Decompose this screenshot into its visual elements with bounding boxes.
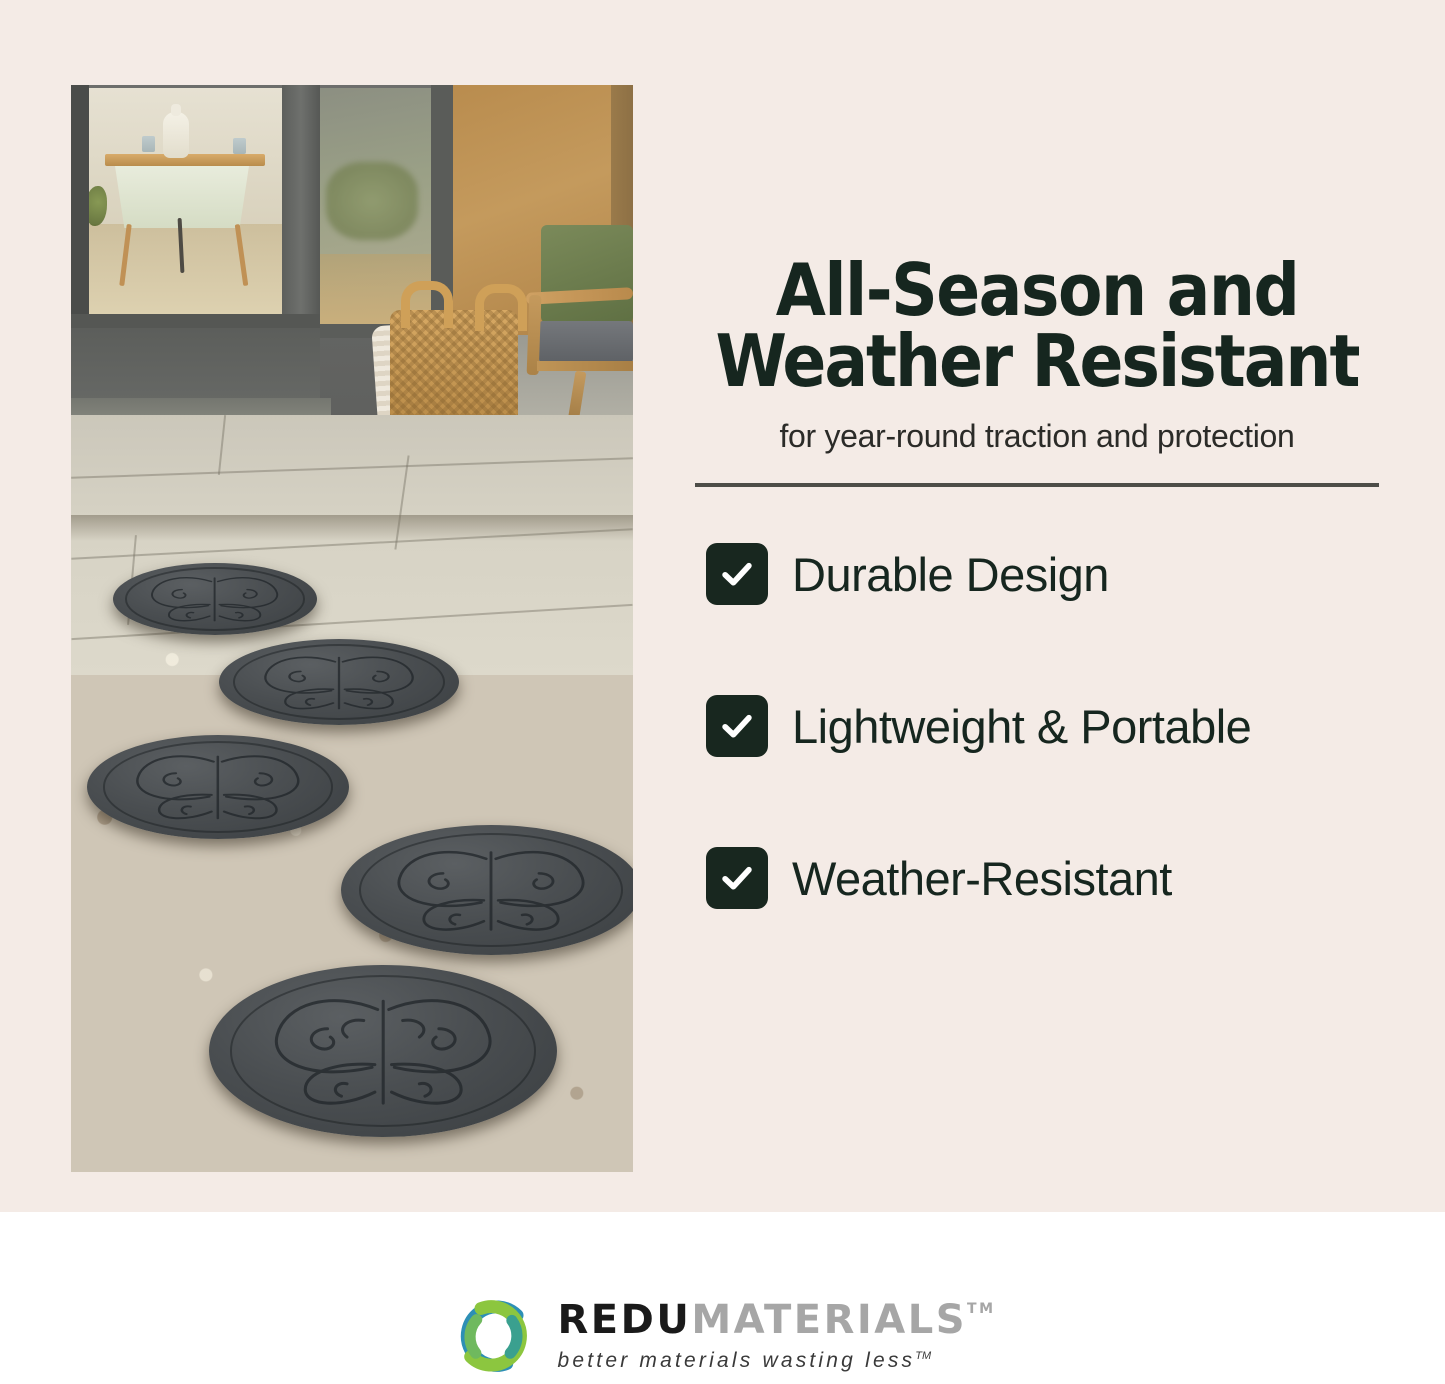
stepping-stone (219, 639, 459, 725)
logo-tagline-trademark: TM (915, 1350, 931, 1362)
list-item: Weather-Resistant (706, 847, 1382, 909)
content-column: All-Season and Weather Resistant for yea… (692, 255, 1382, 909)
feature-label: Weather-Resistant (792, 851, 1172, 906)
subtitle: for year-round traction and protection (692, 418, 1382, 455)
brand-logo: REDU MATERIALS TM better materials wasti… (0, 1288, 1445, 1384)
door-glass-left (89, 88, 282, 314)
logo-trademark: TM (967, 1302, 995, 1316)
check-icon (706, 543, 768, 605)
redu-swirl-ring-icon (450, 1293, 536, 1379)
feature-label: Durable Design (792, 547, 1109, 602)
interior-floor (89, 224, 282, 314)
garden-reflection (326, 162, 418, 240)
logo-text-block: REDU MATERIALS TM better materials wasti… (558, 1300, 996, 1373)
photo-inner (71, 85, 633, 1172)
interior-vase (163, 112, 189, 158)
feature-list: Durable Design Lightweight & Portable We… (706, 543, 1382, 909)
list-item: Durable Design (706, 543, 1382, 605)
logo-tagline: better materials wasting less (558, 1349, 916, 1373)
interior-tablecloth (115, 166, 249, 228)
list-item: Lightweight & Portable (706, 695, 1382, 757)
stepping-stone (341, 825, 633, 955)
chair-rail (537, 361, 633, 371)
patio-door-scene (71, 85, 633, 430)
logo-tagline-row: better materials wasting less TM (558, 1349, 996, 1373)
butterfly-motif-icon (243, 648, 435, 717)
basket-handle (475, 284, 527, 331)
basket-handle (401, 281, 453, 328)
chair-seat-cushion (539, 321, 633, 363)
product-photo (71, 85, 633, 1172)
stepping-stone (113, 563, 317, 635)
logo-word-primary: REDU (558, 1300, 692, 1340)
interior-glass (142, 136, 155, 152)
feature-label: Lightweight & Portable (792, 699, 1251, 754)
butterfly-motif-icon (371, 838, 611, 942)
page-title: All-Season and Weather Resistant (692, 255, 1382, 396)
butterfly-motif-icon (244, 982, 522, 1120)
headline-line-2: Weather Resistant (692, 326, 1382, 397)
green-cushion (541, 225, 633, 323)
butterfly-motif-icon (133, 570, 296, 628)
check-icon (706, 695, 768, 757)
butterfly-motif-icon (113, 745, 323, 828)
divider (695, 483, 1379, 487)
logo-wordmark: REDU MATERIALS TM (558, 1300, 996, 1340)
interior-glass (233, 138, 246, 154)
check-icon (706, 847, 768, 909)
paving-joint (218, 415, 226, 475)
gravel-edge-shadow (71, 515, 633, 541)
stepping-stone (209, 965, 557, 1137)
logo-word-secondary: MATERIALS (691, 1300, 967, 1340)
paving-joint (71, 457, 633, 479)
door-sill (71, 314, 320, 328)
stepping-stone (87, 735, 349, 839)
